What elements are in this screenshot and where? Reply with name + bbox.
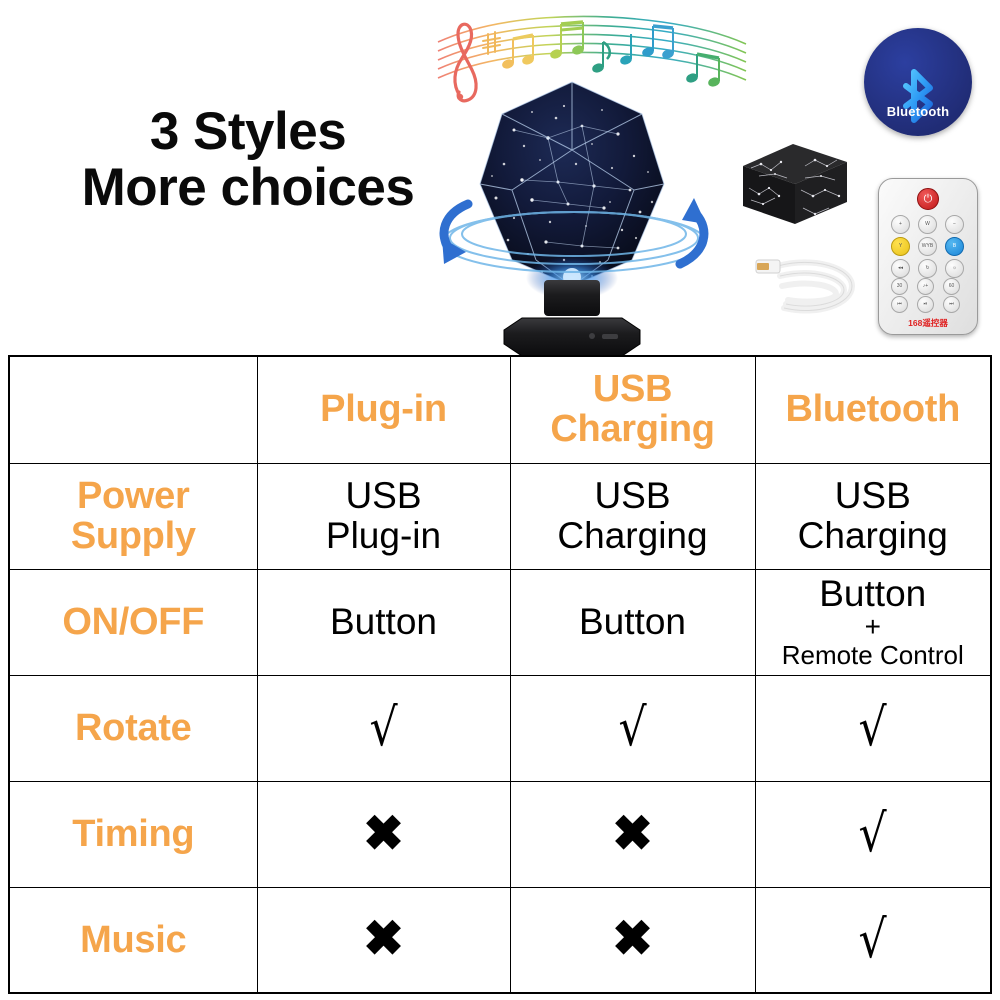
cell-line3: Remote Control — [756, 641, 991, 670]
constellation-gift-box — [735, 132, 853, 232]
cell-line1: USB — [594, 475, 670, 516]
cell-onoff-usb: Button — [510, 569, 755, 675]
row-label-line1: ON/OFF — [62, 601, 204, 643]
remote-button-next: ⏭ — [943, 296, 960, 313]
remote-button-play: ⏯ — [917, 296, 934, 313]
remote-button-brightness: ☼ — [945, 259, 964, 278]
header-bluetooth-label: Bluetooth — [785, 388, 960, 430]
hero-banner: 3 Styles More choices — [0, 0, 1000, 355]
usb-cable-icon — [748, 246, 868, 328]
cross-mark-icon: ✖ — [363, 915, 404, 964]
row-label-line1: Music — [80, 919, 186, 961]
header-cell-empty — [9, 356, 257, 463]
cell-music-bluetooth: √ — [755, 887, 991, 993]
cell-line2: Charging — [798, 515, 948, 556]
cross-mark-icon: ✖ — [612, 810, 653, 859]
cell-line1: Button — [819, 573, 926, 614]
cell-onoff-bluetooth: Button + Remote Control — [755, 569, 991, 675]
remote-button-rotate: ↻ — [918, 259, 937, 278]
remote-button-b: B — [945, 237, 964, 256]
cell-rotate-bluetooth: √ — [755, 675, 991, 781]
check-mark-icon: √ — [859, 702, 887, 754]
cell-music-usb: ✖ — [510, 887, 755, 993]
bluetooth-badge: Bluetooth — [864, 28, 972, 136]
remote-model-label: 168遥控器 — [879, 317, 977, 329]
remote-button-speed-down: ◂◂ — [891, 259, 910, 278]
cell-timing-usb: ✖ — [510, 781, 755, 887]
cell-power-plugin: USB Plug-in — [257, 463, 510, 569]
remote-button-y: Y — [891, 237, 910, 256]
row-label-line1: Rotate — [75, 707, 191, 749]
row-label-music: Music — [9, 887, 257, 993]
cross-mark-icon: ✖ — [612, 915, 653, 964]
row-label-on-off: ON/OFF — [9, 569, 257, 675]
cell-music-plugin: ✖ — [257, 887, 510, 993]
cell-line2: Plug-in — [326, 515, 441, 556]
remote-button-vol-up: ♪+ — [917, 278, 934, 295]
cell-line1: Button — [330, 601, 437, 642]
star-projector-lamp — [452, 72, 692, 355]
header-cell-usb-charging: USB Charging — [510, 356, 755, 463]
headline-line-1: 3 Styles — [150, 102, 346, 161]
row-label-rotate: Rotate — [9, 675, 257, 781]
cell-power-usb: USB Charging — [510, 463, 755, 569]
remote-button-w: W — [918, 215, 937, 234]
header-plugin-label: Plug-in — [320, 388, 447, 430]
table-row: Power Supply USB Plug-in USB Charging US… — [9, 463, 991, 569]
table-header-row: Plug-in USB Charging Bluetooth — [9, 356, 991, 463]
header-cell-plugin: Plug-in — [257, 356, 510, 463]
header-cell-bluetooth: Bluetooth — [755, 356, 991, 463]
check-mark-icon: √ — [369, 702, 397, 754]
cell-timing-bluetooth: √ — [755, 781, 991, 887]
remote-button-plus: + — [891, 215, 910, 234]
cell-line2: Charging — [557, 515, 707, 556]
cell-rotate-usb: √ — [510, 675, 755, 781]
header-usb-line2: Charging — [550, 408, 714, 450]
row-label-line2: Supply — [71, 515, 196, 557]
remote-button-prev: ⏮ — [891, 296, 908, 313]
cross-mark-icon: ✖ — [363, 810, 404, 859]
check-mark-icon: √ — [859, 914, 887, 966]
row-label-line1: Timing — [72, 813, 194, 855]
cell-timing-plugin: ✖ — [257, 781, 510, 887]
check-mark-icon: √ — [618, 702, 646, 754]
remote-button-minus: − — [945, 215, 964, 234]
remote-button-timer-60: 60 — [943, 278, 960, 295]
table-row: Timing ✖ ✖ √ — [9, 781, 991, 887]
header-usb-line1: USB — [593, 368, 672, 410]
page-headline: 3 Styles More choices — [48, 104, 448, 216]
cell-power-bluetooth: USB Charging — [755, 463, 991, 569]
cell-line1: Button — [579, 601, 686, 642]
table-row: Music ✖ ✖ √ — [9, 887, 991, 993]
bluetooth-badge-label: Bluetooth — [864, 104, 972, 119]
remote-power-button: ⏻ — [917, 188, 939, 210]
remote-control-icon: ⏻ + W − Y WYB B ◂◂ ↻ ☼ 30 ♪+ 60 ⏮ ⏯ ⏭ 16… — [878, 178, 978, 335]
cell-line2: + — [756, 613, 991, 641]
cell-line1: USB — [835, 475, 911, 516]
cell-line1: USB — [345, 475, 421, 516]
table-row: ON/OFF Button Button Button + Remote Con… — [9, 569, 991, 675]
cell-onoff-plugin: Button — [257, 569, 510, 675]
feature-comparison-table: Plug-in USB Charging Bluetooth Power Sup… — [8, 355, 992, 994]
row-label-line1: Power — [77, 475, 190, 517]
remote-button-wyb: WYB — [918, 237, 937, 256]
check-mark-icon: √ — [859, 808, 887, 860]
headline-line-2: More choices — [48, 160, 448, 216]
table-row: Rotate √ √ √ — [9, 675, 991, 781]
row-label-timing: Timing — [9, 781, 257, 887]
remote-button-timer-30: 30 — [891, 278, 908, 295]
row-label-power-supply: Power Supply — [9, 463, 257, 569]
cell-rotate-plugin: √ — [257, 675, 510, 781]
